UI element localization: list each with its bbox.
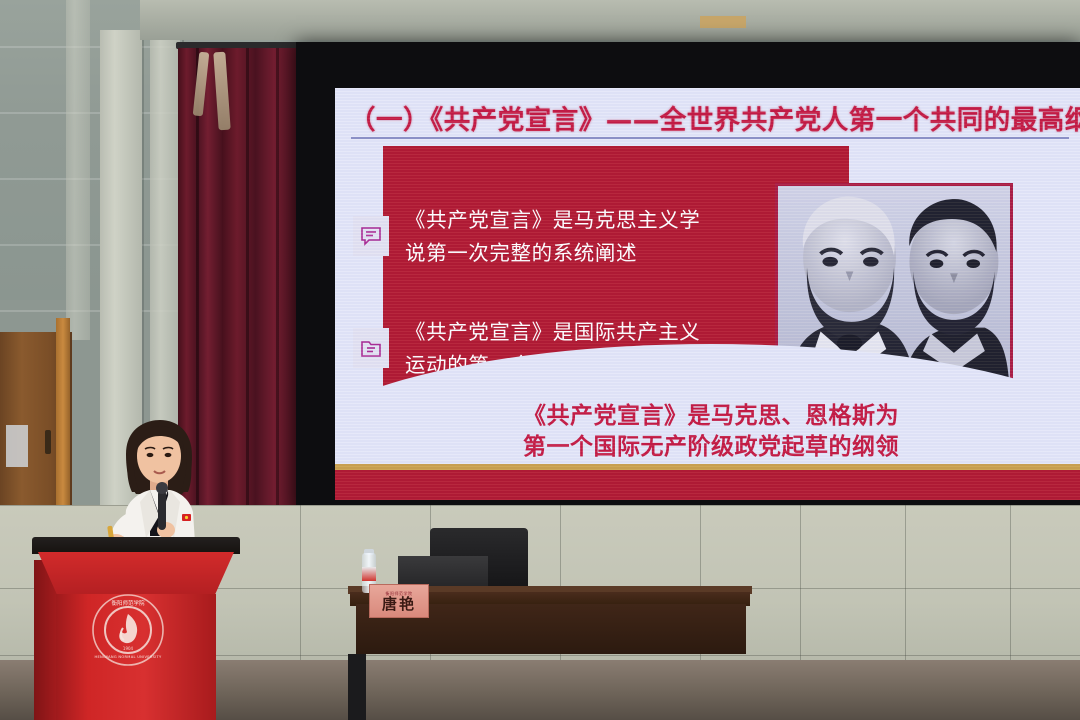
- presentation-slide: （一）《共产党宣言》——全世界共产党人第一个共同的最高纲领 《共产党宣言》是马克…: [335, 88, 1080, 500]
- tile-seam: [300, 505, 301, 665]
- document-folder-icon: [353, 328, 389, 368]
- emblem-year: 1904: [123, 646, 134, 651]
- ceiling-fixture: [700, 16, 746, 28]
- door-handle[interactable]: [45, 430, 51, 454]
- podium-slope: [38, 552, 234, 596]
- caption-line-2: 第一个国际无产阶级政党起草的纲领: [335, 432, 1080, 464]
- nameplate-name: 唐艳: [382, 597, 416, 612]
- bullet-1-line-1: 《共产党宣言》是马克思主义学: [405, 204, 795, 237]
- bottle-label: [362, 567, 376, 581]
- ceiling-beam: [140, 0, 1080, 40]
- caption-line-1: 《共产党宣言》是马克思、恩格斯为: [335, 401, 1080, 433]
- emblem-english-text: HENGYANG NORMAL UNIVERSITY: [94, 655, 162, 659]
- cable-riser: [348, 654, 366, 720]
- tile-seam: [1010, 505, 1011, 665]
- university-emblem: 衡阳师范学院 HENGYANG NORMAL UNIVERSITY 1904: [90, 592, 166, 668]
- podium-desktop: [32, 537, 240, 554]
- stage-curtain-center: [222, 48, 306, 560]
- wall-column: [66, 0, 90, 340]
- emblem-chinese-text: 衡阳师范学院: [111, 599, 145, 607]
- speech-bubble-icon: [353, 216, 389, 256]
- door-notice-paper: [6, 425, 28, 467]
- slide-caption: 《共产党宣言》是马克思、恩格斯为 第一个国际无产阶级政党起草的纲领: [335, 401, 1080, 464]
- slide-title: （一）《共产党宣言》——全世界共产党人第一个共同的最高纲领: [349, 98, 1080, 137]
- nameplate: 衡阳师范学院 唐艳: [369, 584, 429, 618]
- curtain-fold: [276, 48, 279, 560]
- lecture-hall-scene: （一）《共产党宣言》——全世界共产党人第一个共同的最高纲领 《共产党宣言》是马克…: [0, 0, 1080, 720]
- title-underline: [351, 137, 1069, 139]
- tile-seam: [905, 505, 906, 665]
- bullet-1-line-2: 说第一次完整的系统阐述: [405, 237, 795, 270]
- tile-seam: [800, 505, 801, 665]
- curtain-fold: [246, 48, 249, 560]
